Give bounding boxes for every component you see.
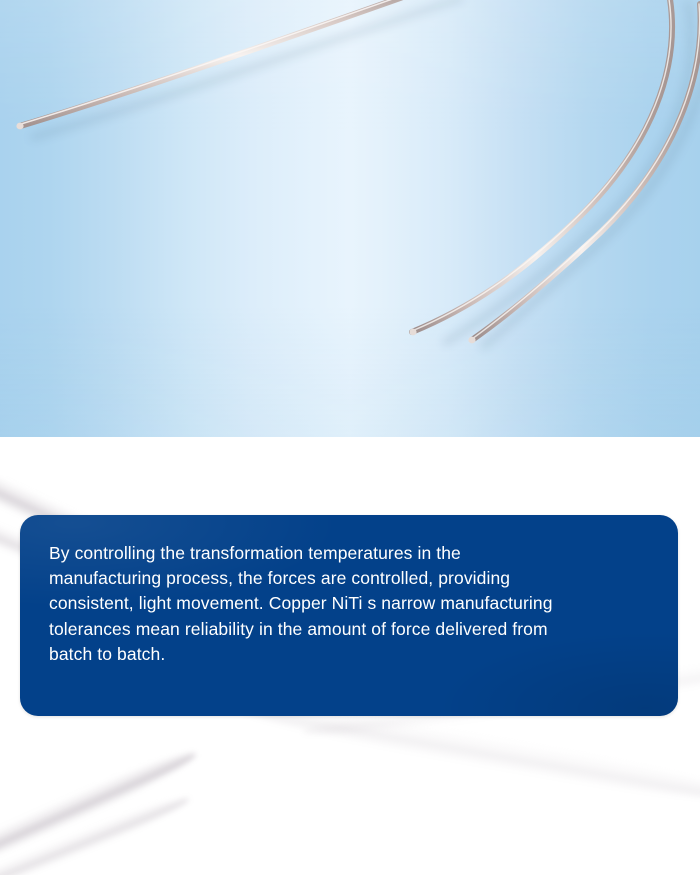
archwire-tips xyxy=(16,123,475,344)
archwire-left xyxy=(20,0,430,126)
description-text: By controlling the transformation temper… xyxy=(49,541,660,667)
wire-shadow-group xyxy=(34,0,700,346)
archwire-right-outer xyxy=(472,4,700,340)
archwire-illustration xyxy=(0,0,700,437)
product-detail-page: By controlling the transformation temper… xyxy=(0,0,700,875)
hero-archwire-image xyxy=(0,0,700,437)
description-callout: By controlling the transformation temper… xyxy=(20,515,678,716)
